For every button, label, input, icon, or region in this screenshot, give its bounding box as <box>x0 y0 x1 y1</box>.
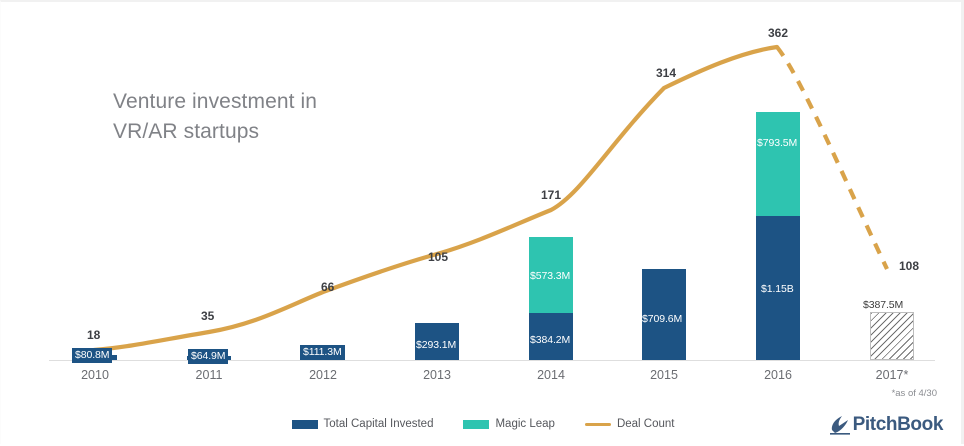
deal-count-label-2013: 105 <box>428 250 448 264</box>
bar-label-2012-total-capital: $111.3M <box>300 345 345 360</box>
legend-item-deal-count[interactable]: Deal Count <box>585 418 675 430</box>
bar-label-2014-total-capital: $384.2M <box>530 334 570 346</box>
legend-swatch-icon-total-capital <box>292 420 318 429</box>
x-tick-2016: 2016 <box>733 368 823 382</box>
chart-canvas: Venture investment in VR/AR startups 18 … <box>0 0 964 444</box>
bar-label-2016-total-capital: $1.15B <box>761 283 794 295</box>
bar-label-2017-total-capital: $387.5M <box>863 299 903 311</box>
bar-2017-total-capital-forecast[interactable] <box>870 312 914 360</box>
x-tick-2015: 2015 <box>619 368 709 382</box>
legend-line-icon-deal-count <box>585 423 611 426</box>
x-tick-2014: 2014 <box>506 368 596 382</box>
deal-count-label-2015: 314 <box>656 66 676 80</box>
legend-item-total-capital-invested[interactable]: Total Capital Invested <box>292 418 434 430</box>
x-tick-2013: 2013 <box>392 368 482 382</box>
x-tick-2011: 2011 <box>164 368 254 382</box>
legend-label-total-capital: Total Capital Invested <box>324 418 434 430</box>
x-tick-2012: 2012 <box>278 368 368 382</box>
footnote: *as of 4/30 <box>892 388 937 399</box>
brand-name: PitchBook <box>853 414 943 436</box>
deal-count-label-2012: 66 <box>321 280 334 294</box>
plot-area: 18 35 66 105 171 314 362 108 $80.8M $64.… <box>1 2 961 444</box>
bar-2016-magic-leap[interactable] <box>756 112 800 216</box>
deal-count-label-2011: 35 <box>201 309 214 323</box>
brand-logo: PitchBook <box>829 414 943 436</box>
pitchbook-flame-icon <box>829 415 851 435</box>
legend-label-magic-leap: Magic Leap <box>495 418 554 430</box>
deal-count-label-2016: 362 <box>768 26 788 40</box>
bar-label-2011-total-capital: $64.9M <box>188 349 228 364</box>
legend-swatch-icon-magic-leap <box>463 420 489 429</box>
x-tick-2010: 2010 <box>50 368 140 382</box>
deal-count-label-2010: 18 <box>87 328 100 342</box>
bar-label-2013-total-capital: $293.1M <box>416 339 456 351</box>
x-tick-2017: 2017* <box>847 368 937 382</box>
deal-count-label-2014: 171 <box>541 188 561 202</box>
deal-count-label-2017: 108 <box>899 259 919 273</box>
legend-label-deal-count: Deal Count <box>617 418 675 430</box>
bar-label-2016-magic-leap: $793.5M <box>757 137 797 149</box>
bar-label-2014-magic-leap: $573.3M <box>530 270 570 282</box>
legend-item-magic-leap[interactable]: Magic Leap <box>463 418 554 430</box>
bar-label-2010-total-capital: $80.8M <box>72 348 112 363</box>
bar-label-2015-total-capital: $709.6M <box>642 313 682 325</box>
